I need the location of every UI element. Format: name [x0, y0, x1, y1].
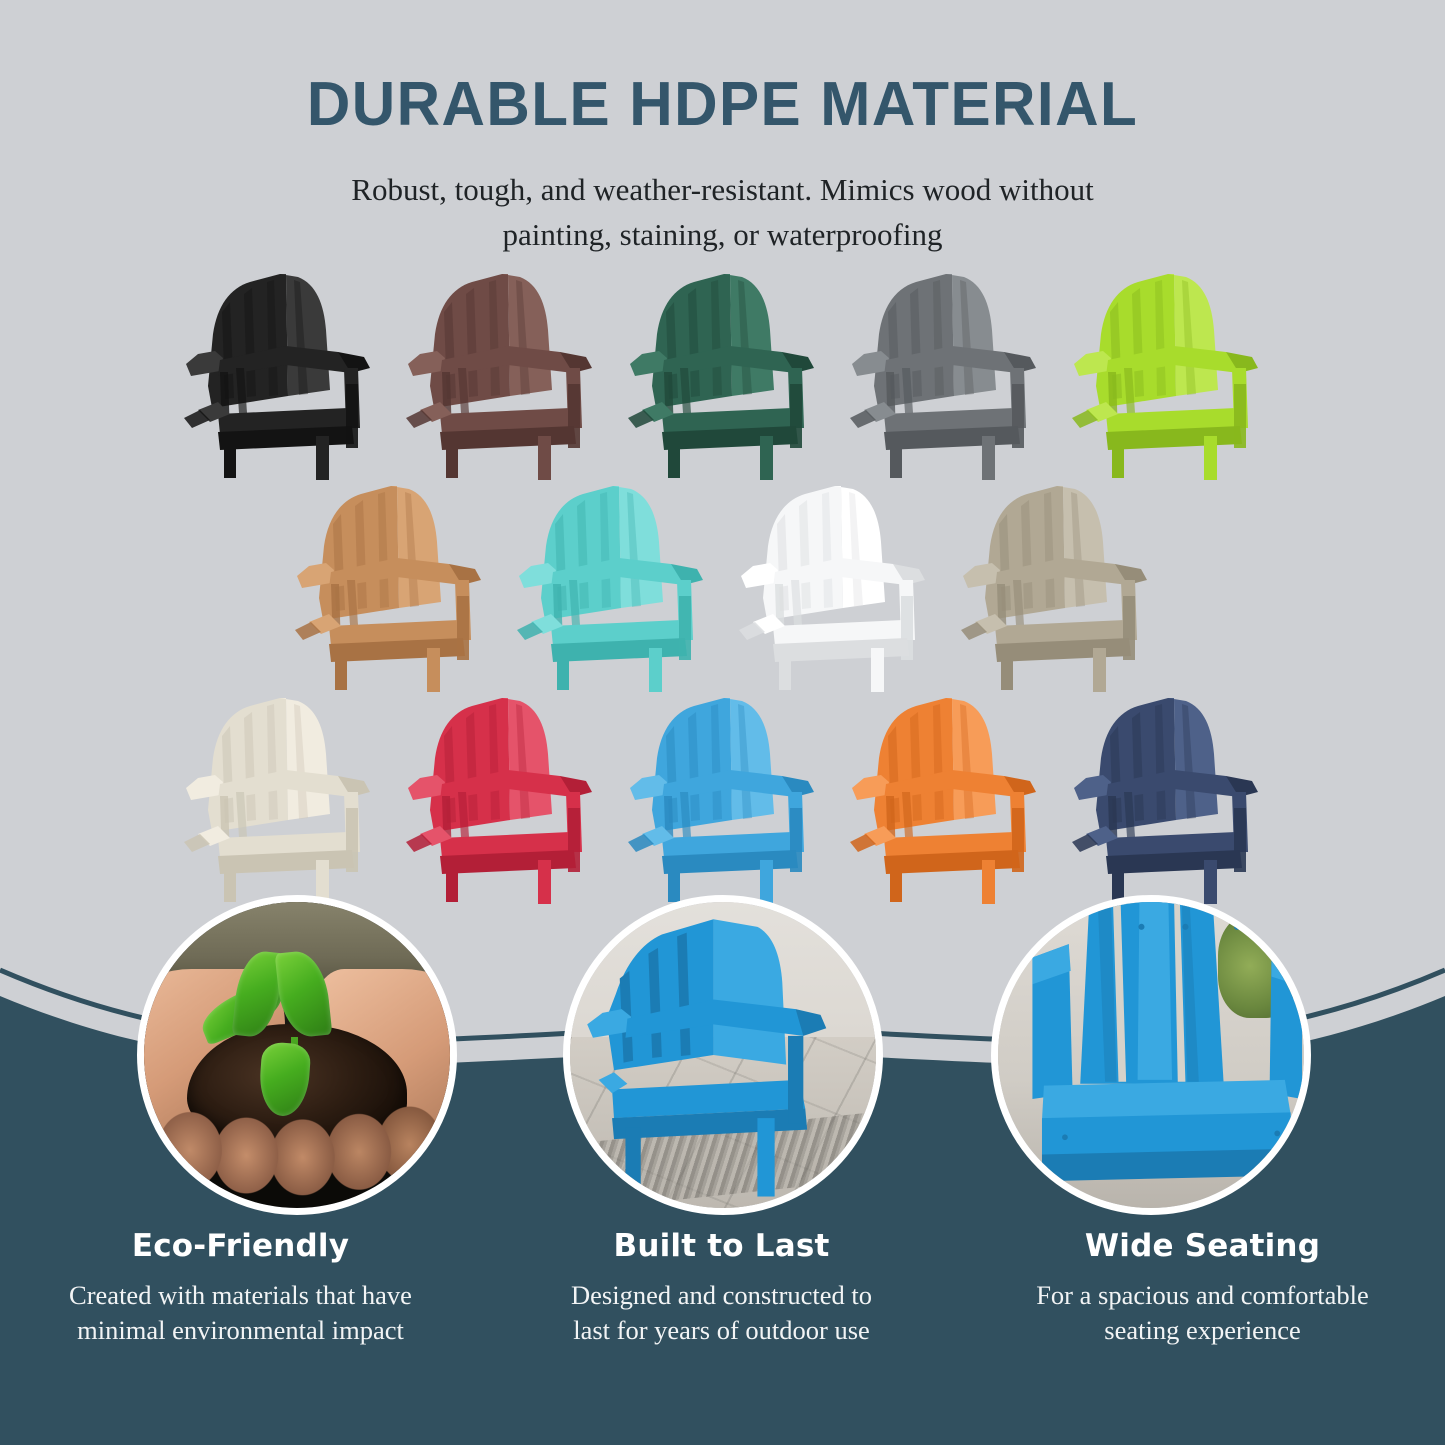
feature-title-2: Built to Last — [495, 1228, 948, 1264]
chair-wide-seat-closeup — [1042, 1080, 1294, 1181]
adirondack-chair-svg — [279, 480, 501, 695]
feature-desc-1: Created with materials that have minimal… — [14, 1278, 467, 1348]
header-block: DURABLE HDPE MATERIAL Robust, tough, and… — [0, 0, 1445, 258]
hands-holding-seedling-photo — [137, 895, 457, 1215]
chair-row-3 — [0, 692, 1445, 907]
chair-swatch-brown[interactable] — [390, 268, 612, 483]
page-subtitle-line-1: Robust, tough, and weather-resistant. Mi… — [223, 168, 1223, 213]
photo-inner-1 — [144, 902, 450, 1208]
feature-desc-3: For a spacious and comfortable seating e… — [976, 1278, 1429, 1348]
feature-desc-2-line-2: last for years of outdoor use — [495, 1313, 948, 1348]
fingers-shape — [156, 1104, 438, 1196]
adirondack-chair-svg — [390, 268, 612, 483]
adirondack-chair-svg — [168, 268, 390, 483]
page-title: DURABLE HDPE MATERIAL — [22, 74, 1424, 136]
chair-swatch-black[interactable] — [168, 268, 390, 483]
feature-desc-2-line-1: Designed and constructed to — [495, 1278, 948, 1313]
adirondack-chair-svg — [723, 480, 945, 695]
adirondack-chair-svg — [1056, 268, 1278, 483]
photo-inner-2 — [570, 902, 876, 1208]
adirondack-chair-svg — [612, 268, 834, 483]
adirondack-chair-svg — [612, 692, 834, 907]
blue-chair-illustration-front — [998, 902, 1304, 1208]
infographic-root: DURABLE HDPE MATERIAL Robust, tough, and… — [0, 0, 1445, 1445]
feature-photo-circles — [0, 893, 1445, 1223]
adirondack-chair-svg — [168, 692, 390, 907]
chair-swatch-orange[interactable] — [834, 692, 1056, 907]
blue-chair-wide-seat-closeup-photo — [991, 895, 1311, 1215]
feature-title-3: Wide Seating — [976, 1228, 1429, 1264]
page-subtitle: Robust, tough, and weather-resistant. Mi… — [223, 168, 1223, 258]
adirondack-chair-svg — [945, 480, 1167, 695]
chair-color-grid — [0, 268, 1445, 908]
blue-adirondack-chair-on-patio-photo — [563, 895, 883, 1215]
chair-swatch-light-blue[interactable] — [612, 692, 834, 907]
adirondack-chair-svg — [390, 692, 612, 907]
chair-swatch-red[interactable] — [390, 692, 612, 907]
feature-desc-2: Designed and constructed to last for yea… — [495, 1278, 948, 1348]
chair-swatch-gray[interactable] — [834, 268, 1056, 483]
feature-desc-3-line-2: seating experience — [976, 1313, 1429, 1348]
feature-eco-friendly: Eco-Friendly Created with materials that… — [0, 1228, 481, 1348]
feature-captions: Eco-Friendly Created with materials that… — [0, 1228, 1445, 1348]
feature-wide-seating: Wide Seating For a spacious and comforta… — [962, 1228, 1443, 1348]
feature-desc-1-line-1: Created with materials that have — [14, 1278, 467, 1313]
chair-row-1 — [0, 268, 1445, 483]
chair-swatch-white[interactable] — [723, 480, 945, 695]
adirondack-chair-svg — [834, 268, 1056, 483]
adirondack-chair-svg — [1056, 692, 1278, 907]
chair-swatch-navy[interactable] — [1056, 692, 1278, 907]
feature-built-to-last: Built to Last Designed and constructed t… — [481, 1228, 962, 1348]
page-subtitle-line-2: painting, staining, or waterproofing — [223, 213, 1223, 258]
chair-swatch-lime-green[interactable] — [1056, 268, 1278, 483]
feature-desc-3-line-1: For a spacious and comfortable — [976, 1278, 1429, 1313]
chair-swatch-taupe[interactable] — [945, 480, 1167, 695]
adirondack-chair-svg — [501, 480, 723, 695]
photo-inner-3 — [998, 902, 1304, 1208]
chair-back-slats — [606, 919, 786, 1070]
chair-swatch-ivory[interactable] — [168, 692, 390, 907]
feature-title-1: Eco-Friendly — [14, 1228, 467, 1264]
chair-back-fan-slats — [1080, 902, 1240, 1084]
feature-desc-1-line-2: minimal environmental impact — [14, 1313, 467, 1348]
chair-row-2 — [0, 480, 1445, 695]
chair-swatch-turquoise[interactable] — [501, 480, 723, 695]
adirondack-chair-svg — [834, 692, 1056, 907]
blue-chair-illustration-side — [570, 902, 876, 1208]
chair-swatch-teak[interactable] — [279, 480, 501, 695]
chair-swatch-dark-green[interactable] — [612, 268, 834, 483]
